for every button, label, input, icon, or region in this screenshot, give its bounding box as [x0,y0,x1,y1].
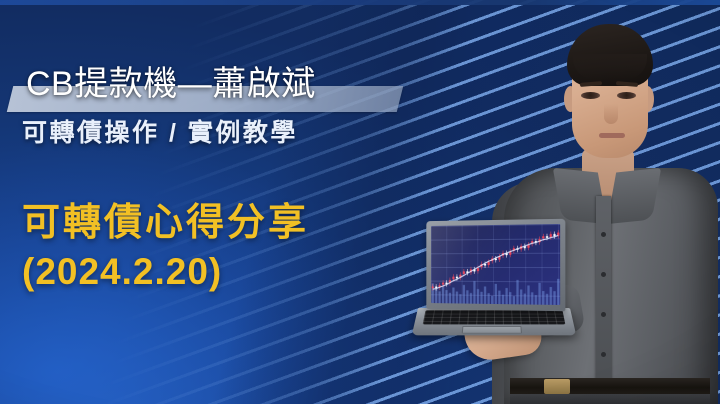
laptop-base [412,308,576,335]
topic-line-1: 可轉債心得分享 [22,198,422,248]
stock-chart [431,224,560,305]
page-title: CB提款機—蕭啟斌 [26,56,426,105]
nose [604,104,618,124]
trackpad [462,326,522,334]
page-subtitle: 可轉債操作 / 實例教學 [22,113,298,149]
shirt-button [601,272,606,277]
laptop-lid [426,219,565,311]
shirt-button [601,352,606,357]
topic-block: 可轉債心得分享 (2024.2.20) [22,198,422,297]
eye-right [617,92,636,99]
laptop [418,220,570,350]
eye-left [581,92,600,99]
shirt-placket [596,196,611,404]
keyboard [423,310,566,324]
belt-buckle [544,379,570,394]
mouth [599,133,625,138]
shirt-button [601,312,606,317]
video-thumbnail: CB提款機—蕭啟斌 可轉債操作 / 實例教學 可轉債心得分享 (2024.2.2… [0,0,720,404]
shirt-button [601,232,606,237]
topic-date: (2024.2.20) [22,248,422,297]
laptop-screen [431,224,560,305]
trousers [510,394,710,404]
belt [510,378,710,395]
hair [567,24,653,86]
